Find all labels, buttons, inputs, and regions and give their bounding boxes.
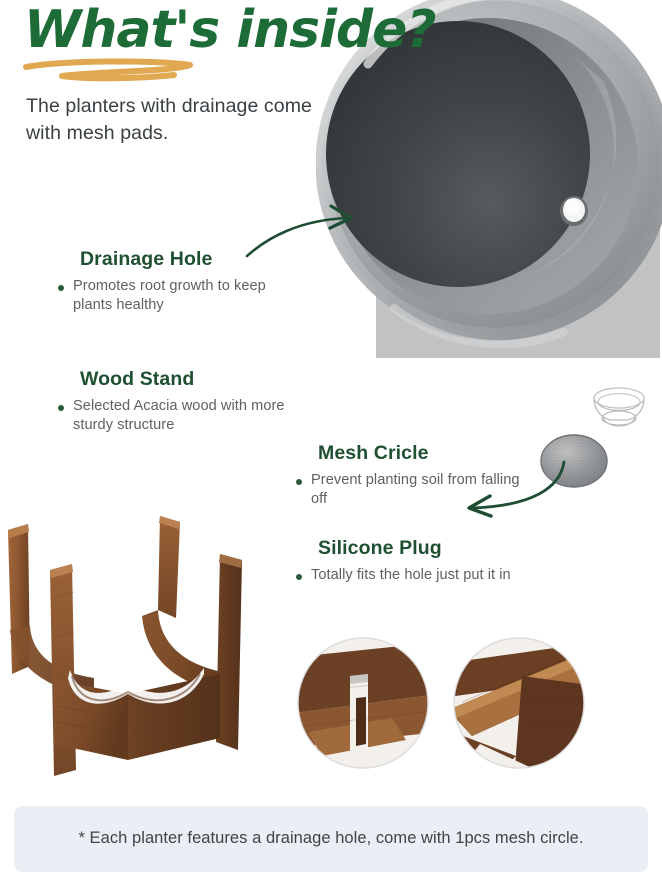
footer-note-text: * Each planter features a drainage hole,… — [78, 827, 583, 851]
feature-bullet-text: Promotes root growth to keep plants heal… — [73, 277, 295, 316]
bullet-dot-icon — [296, 574, 302, 580]
title-underline-swoosh — [22, 58, 202, 84]
page-title: What's inside? — [24, 4, 436, 56]
feature-drainage-hole: Drainage Hole Promotes root growth to ke… — [80, 248, 295, 316]
feature-bullet-row: Promotes root growth to keep plants heal… — [58, 277, 295, 316]
silicone-plug-image — [588, 385, 650, 433]
feature-heading: Mesh Cricle — [318, 442, 528, 465]
wood-joint-assembled-detail-image — [452, 636, 586, 770]
feature-bullet-text: Totally fits the hole just put it in — [311, 566, 511, 585]
feature-bullet-row: Prevent planting soil from falling off — [296, 471, 528, 510]
wood-stand-image — [0, 498, 294, 776]
feature-wood-stand: Wood Stand Selected Acacia wood with mor… — [80, 368, 295, 436]
page-subtitle: The planters with drainage come with mes… — [26, 93, 326, 147]
bullet-dot-icon — [296, 479, 302, 485]
feature-mesh-circle: Mesh Cricle Prevent planting soil from f… — [318, 442, 528, 510]
bullet-dot-icon — [58, 405, 64, 411]
feature-bullet-text: Selected Acacia wood with more sturdy st… — [73, 397, 295, 436]
feature-heading: Drainage Hole — [80, 248, 295, 271]
feature-bullet-row: Totally fits the hole just put it in — [296, 566, 533, 585]
feature-heading: Wood Stand — [80, 368, 295, 391]
feature-bullet-row: Selected Acacia wood with more sturdy st… — [58, 397, 295, 436]
feature-bullet-text: Prevent planting soil from falling off — [311, 471, 528, 510]
drainage-hole-icon — [560, 196, 588, 226]
wood-joint-slot-detail-image — [296, 636, 430, 770]
feature-heading: Silicone Plug — [318, 537, 533, 560]
bullet-dot-icon — [58, 285, 64, 291]
feature-silicone-plug: Silicone Plug Totally fits the hole just… — [318, 537, 533, 585]
footer-note-band: * Each planter features a drainage hole,… — [14, 806, 648, 872]
infographic-canvas: What's inside? The planters with drainag… — [0, 0, 662, 879]
